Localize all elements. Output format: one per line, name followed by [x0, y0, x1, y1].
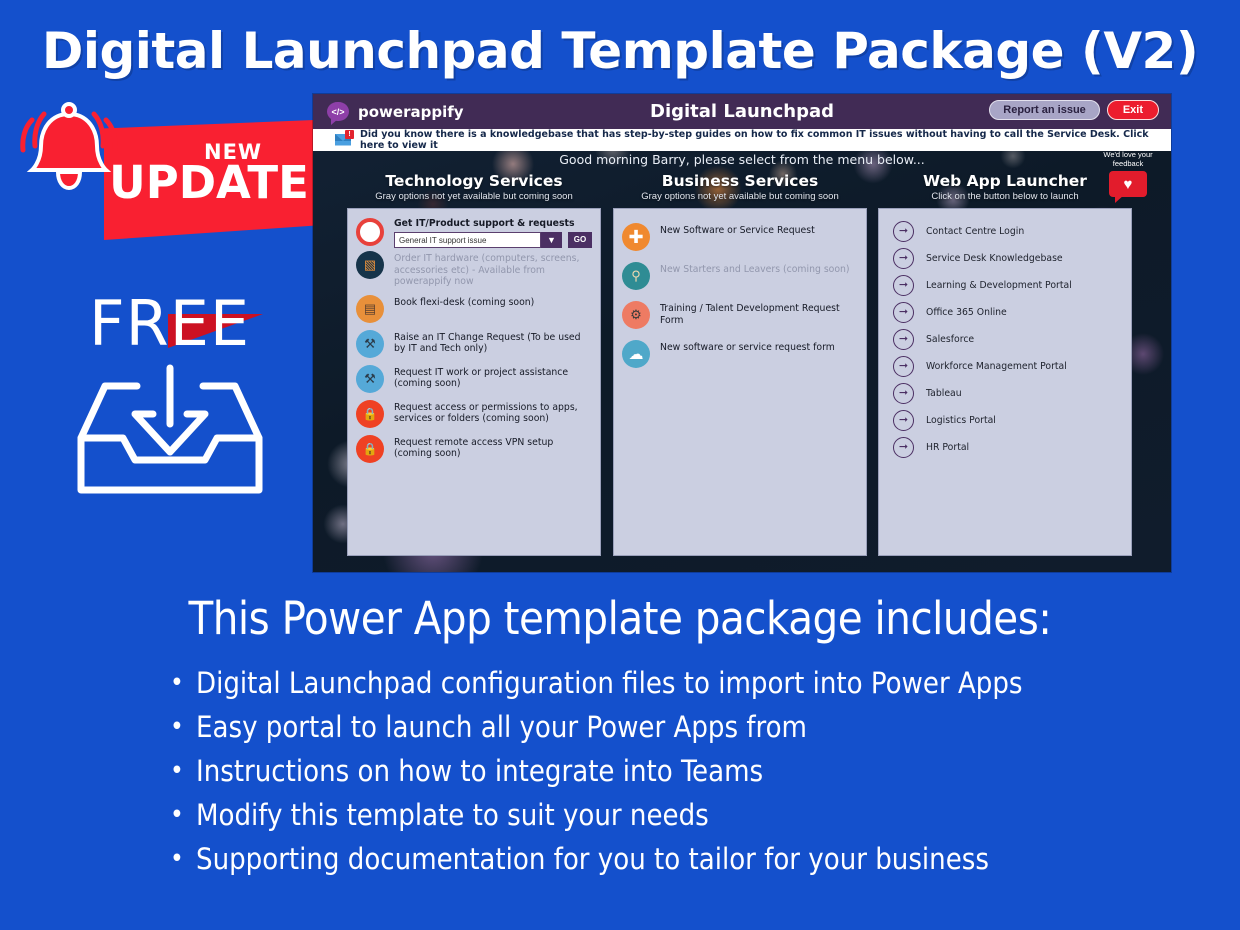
- support-request-row: Get IT/Product support & requests Genera…: [356, 218, 592, 248]
- poster-canvas: Digital Launchpad Template Package (V2) …: [0, 0, 1240, 930]
- technology-services-panel: Get IT/Product support & requests Genera…: [347, 208, 601, 556]
- lifebuoy-icon: [356, 218, 384, 246]
- list-item[interactable]: ☁ New software or service request form: [622, 340, 858, 368]
- list-item-label: Salesforce: [926, 334, 974, 345]
- arrow-right-icon[interactable]: ➞: [893, 356, 914, 377]
- list-item[interactable]: 🔒 Request access or permissions to apps,…: [356, 400, 592, 428]
- list-item-label: New Software or Service Request: [660, 223, 815, 237]
- column-heading: Technology Services: [347, 172, 601, 190]
- training-icon: ⚙: [622, 301, 650, 329]
- knowledgebase-banner[interactable]: ! Did you know there is a knowledgebase …: [313, 129, 1171, 151]
- list-item-label: Instructions on how to integrate into Te…: [196, 754, 763, 788]
- shield-lock-icon: 🔒: [356, 400, 384, 428]
- shield-lock-icon: 🔒: [356, 435, 384, 463]
- list-item-label: Book flexi-desk (coming soon): [394, 295, 534, 309]
- app-screenshot: </> powerappify Digital Launchpad Report…: [313, 94, 1171, 572]
- list-item: • Instructions on how to integrate into …: [170, 754, 1150, 788]
- arrow-right-icon[interactable]: ➞: [893, 329, 914, 350]
- arrow-right-icon[interactable]: ➞: [893, 302, 914, 323]
- support-request-label: Get IT/Product support & requests: [394, 218, 592, 229]
- list-item[interactable]: ➞ Salesforce: [887, 329, 1123, 350]
- list-item-label: Logistics Portal: [926, 415, 996, 426]
- basket-icon: ▧: [356, 251, 384, 279]
- list-item-label: Raise an IT Change Request (To be used b…: [394, 330, 592, 355]
- list-item[interactable]: ➞ Office 365 Online: [887, 302, 1123, 323]
- exit-button[interactable]: Exit: [1107, 100, 1159, 120]
- page-title: Digital Launchpad Template Package (V2): [0, 22, 1240, 80]
- list-item[interactable]: ➞ Logistics Portal: [887, 410, 1123, 431]
- knowledgebase-banner-text: Did you know there is a knowledgebase th…: [360, 129, 1171, 151]
- bell-icon: [14, 100, 124, 205]
- list-item-label: Office 365 Online: [926, 307, 1007, 318]
- list-item[interactable]: ⚒ Request IT work or project assistance …: [356, 365, 592, 393]
- list-item[interactable]: ➞ Contact Centre Login: [887, 221, 1123, 242]
- list-item[interactable]: ⚒ Raise an IT Change Request (To be used…: [356, 330, 592, 358]
- new-update-badge: NEW UPDATE: [8, 98, 318, 278]
- column-technology-services: Technology Services Gray options not yet…: [347, 172, 601, 556]
- bullet-icon: •: [170, 710, 196, 744]
- column-subheading: Gray options not yet available but comin…: [613, 191, 867, 202]
- list-item: • Easy portal to launch all your Power A…: [170, 710, 1150, 744]
- list-item[interactable]: 🔒 Request remote access VPN setup (comin…: [356, 435, 592, 463]
- list-item-label: Training / Talent Development Request Fo…: [660, 301, 858, 326]
- list-item[interactable]: ▧ Order IT hardware (computers, screens,…: [356, 251, 592, 288]
- bullet-icon: •: [170, 754, 196, 788]
- header-actions: Report an issue Exit: [989, 100, 1159, 120]
- web-app-launcher-panel: ➞ Contact Centre Login ➞ Service Desk Kn…: [878, 208, 1132, 556]
- cloud-icon: ☁: [622, 340, 650, 368]
- bullet-icon: •: [170, 666, 196, 700]
- support-issue-select[interactable]: General IT support issue: [394, 232, 541, 248]
- arrow-right-icon[interactable]: ➞: [893, 437, 914, 458]
- list-item[interactable]: ✚ New Software or Service Request: [622, 223, 858, 251]
- list-item-label: Digital Launchpad configuration files to…: [196, 666, 1023, 700]
- list-item-label: HR Portal: [926, 442, 969, 453]
- alert-badge: !: [345, 130, 354, 139]
- column-subheading: Gray options not yet available but comin…: [347, 191, 601, 202]
- arrow-right-icon[interactable]: ➞: [893, 410, 914, 431]
- list-item[interactable]: ➞ Learning & Development Portal: [887, 275, 1123, 296]
- list-item-label: Request access or permissions to apps, s…: [394, 400, 592, 425]
- report-an-issue-button[interactable]: Report an issue: [989, 100, 1100, 120]
- person-search-icon: ⚲: [622, 262, 650, 290]
- desk-icon: ▤: [356, 295, 384, 323]
- list-item-label: Order IT hardware (computers, screens, a…: [394, 251, 592, 288]
- download-tray-icon: [75, 362, 265, 497]
- list-item-label: New software or service request form: [660, 340, 835, 354]
- list-item[interactable]: ➞ Service Desk Knowledgebase: [887, 248, 1123, 269]
- includes-list: • Digital Launchpad configuration files …: [170, 666, 1150, 886]
- list-item-label: New Starters and Leavers (coming soon): [660, 262, 850, 276]
- list-item: • Digital Launchpad configuration files …: [170, 666, 1150, 700]
- list-item[interactable]: ⚙ Training / Talent Development Request …: [622, 301, 858, 329]
- arrow-right-icon[interactable]: ➞: [893, 248, 914, 269]
- plus-circle-icon: ✚: [622, 223, 650, 251]
- column-subheading: Click on the button below to launch: [878, 191, 1132, 202]
- list-item-label: Tableau: [926, 388, 962, 399]
- list-item[interactable]: ▤ Book flexi-desk (coming soon): [356, 295, 592, 323]
- list-item: • Modify this template to suit your need…: [170, 798, 1150, 832]
- arrow-right-icon[interactable]: ➞: [893, 221, 914, 242]
- list-item[interactable]: ➞ HR Portal: [887, 437, 1123, 458]
- list-item-label: Request IT work or project assistance (c…: [394, 365, 592, 390]
- list-item-label: Request remote access VPN setup (coming …: [394, 435, 592, 460]
- free-label: FREE: [62, 292, 277, 356]
- column-business-services: Business Services Gray options not yet a…: [613, 172, 867, 556]
- arrow-right-icon[interactable]: ➞: [893, 275, 914, 296]
- list-item-label: Easy portal to launch all your Power App…: [196, 710, 807, 744]
- free-download-block: FREE: [62, 292, 277, 497]
- list-item: • Supporting documentation for you to ta…: [170, 842, 1150, 876]
- list-item-label: Contact Centre Login: [926, 226, 1024, 237]
- list-item[interactable]: ⚲ New Starters and Leavers (coming soon): [622, 262, 858, 290]
- tools-icon: ⚒: [356, 330, 384, 358]
- greeting-text: Good morning Barry, please select from t…: [313, 152, 1171, 167]
- feedback-label-line1: We'd love your: [1091, 150, 1165, 159]
- tools-icon: ⚒: [356, 365, 384, 393]
- ribbon-update-label: UPDATE: [104, 160, 314, 206]
- list-item-label: Learning & Development Portal: [926, 280, 1072, 291]
- list-item-label: Workforce Management Portal: [926, 361, 1067, 372]
- list-item-label: Modify this template to suit your needs: [196, 798, 709, 832]
- column-heading: Business Services: [613, 172, 867, 190]
- column-heading: Web App Launcher: [878, 172, 1132, 190]
- list-item[interactable]: ➞ Tableau: [887, 383, 1123, 404]
- list-item-label: Supporting documentation for you to tail…: [196, 842, 989, 876]
- bullet-icon: •: [170, 842, 196, 876]
- feedback-label-line2: feedback: [1091, 159, 1165, 168]
- business-services-panel: ✚ New Software or Service Request ⚲ New …: [613, 208, 867, 556]
- envelope-alert-icon: !: [335, 134, 351, 147]
- arrow-right-icon[interactable]: ➞: [893, 383, 914, 404]
- list-item[interactable]: ➞ Workforce Management Portal: [887, 356, 1123, 377]
- bullet-icon: •: [170, 798, 196, 832]
- column-web-app-launcher: Web App Launcher Click on the button bel…: [878, 172, 1132, 556]
- go-button[interactable]: GO: [568, 232, 592, 248]
- includes-title: This Power App template package includes…: [0, 592, 1240, 645]
- chevron-down-icon[interactable]: ▼: [541, 232, 562, 248]
- list-item-label: Service Desk Knowledgebase: [926, 253, 1063, 264]
